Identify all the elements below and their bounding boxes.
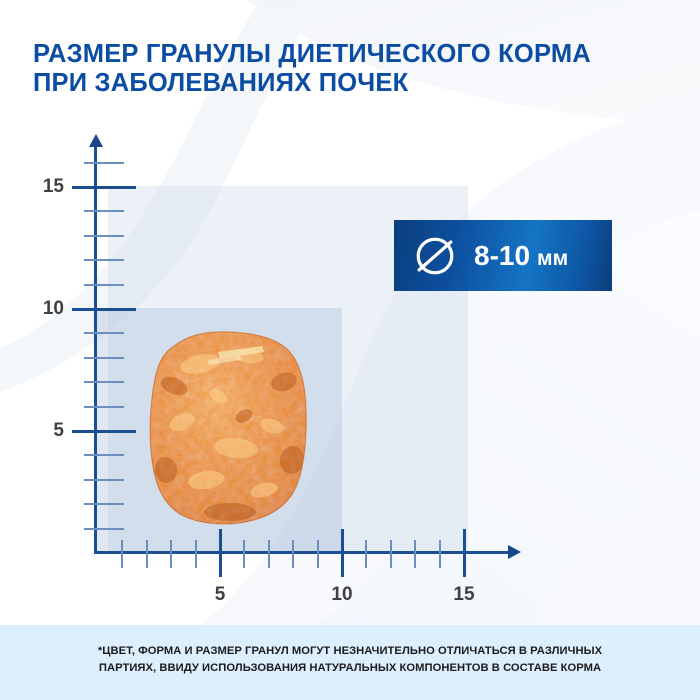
diameter-icon: [412, 233, 458, 279]
y-tick-minor: [84, 479, 124, 481]
y-tick-minor: [84, 381, 124, 383]
diameter-badge: 8-10 мм: [394, 220, 612, 291]
y-tick-label-10: 10: [20, 298, 64, 320]
y-tick-major-5: [72, 430, 136, 433]
x-tick-minor: [414, 540, 416, 568]
x-tick-minor: [268, 540, 270, 568]
x-tick-label-10: 10: [322, 584, 362, 606]
y-tick-minor: [84, 235, 124, 237]
y-tick-minor: [84, 528, 124, 530]
y-tick-minor: [84, 259, 124, 261]
y-tick-minor: [84, 503, 124, 505]
diameter-value: 8-10: [474, 240, 530, 272]
x-tick-minor: [317, 540, 319, 568]
x-axis-line: [94, 551, 514, 554]
diameter-unit: мм: [537, 247, 568, 271]
footer-disclaimer-bar: *ЦВЕТ, ФОРМА И РАЗМЕР ГРАНУЛ МОГУТ НЕЗНА…: [0, 625, 700, 700]
footer-line-2: ПАРТИЯХ, ВВИДУ ИСПОЛЬЗОВАНИЯ НАТУРАЛЬНЫХ…: [0, 660, 700, 677]
x-tick-label-5: 5: [200, 584, 240, 606]
x-tick-minor: [195, 540, 197, 568]
y-axis-arrow-icon: [89, 134, 103, 147]
x-tick-minor: [121, 540, 123, 568]
x-axis-arrow-icon: [508, 545, 521, 559]
size-scale-chart: 15 10 5 5 10 15: [0, 0, 700, 640]
y-tick-minor: [84, 332, 124, 334]
x-tick-minor: [365, 540, 367, 568]
y-tick-minor: [84, 210, 124, 212]
y-tick-label-15: 15: [20, 176, 64, 198]
y-tick-label-5: 5: [20, 420, 64, 442]
y-tick-major-10: [72, 308, 136, 311]
kibble-granule-image: [144, 330, 316, 528]
x-tick-minor: [170, 540, 172, 568]
x-tick-minor: [390, 540, 392, 568]
y-axis-line: [94, 144, 97, 554]
y-tick-minor: [84, 357, 124, 359]
infographic-canvas: РАЗМЕР ГРАНУЛЫ ДИЕТИЧЕСКОГО КОРМА ПРИ ЗА…: [0, 0, 700, 700]
x-tick-major-10: [341, 529, 344, 577]
y-tick-major-15: [72, 186, 136, 189]
y-tick-minor: [84, 162, 124, 164]
x-tick-minor: [243, 540, 245, 568]
x-tick-minor: [439, 540, 441, 568]
y-tick-minor: [84, 284, 124, 286]
x-tick-minor: [292, 540, 294, 568]
y-tick-minor: [84, 406, 124, 408]
diameter-badge-text: 8-10 мм: [474, 240, 568, 272]
y-tick-minor: [84, 454, 124, 456]
x-tick-minor: [146, 540, 148, 568]
x-tick-label-15: 15: [444, 584, 484, 606]
footer-disclaimer-text: *ЦВЕТ, ФОРМА И РАЗМЕР ГРАНУЛ МОГУТ НЕЗНА…: [0, 643, 700, 677]
footer-line-1: *ЦВЕТ, ФОРМА И РАЗМЕР ГРАНУЛ МОГУТ НЕЗНА…: [0, 643, 700, 660]
x-tick-major-5: [219, 529, 222, 577]
x-tick-major-15: [463, 529, 466, 577]
